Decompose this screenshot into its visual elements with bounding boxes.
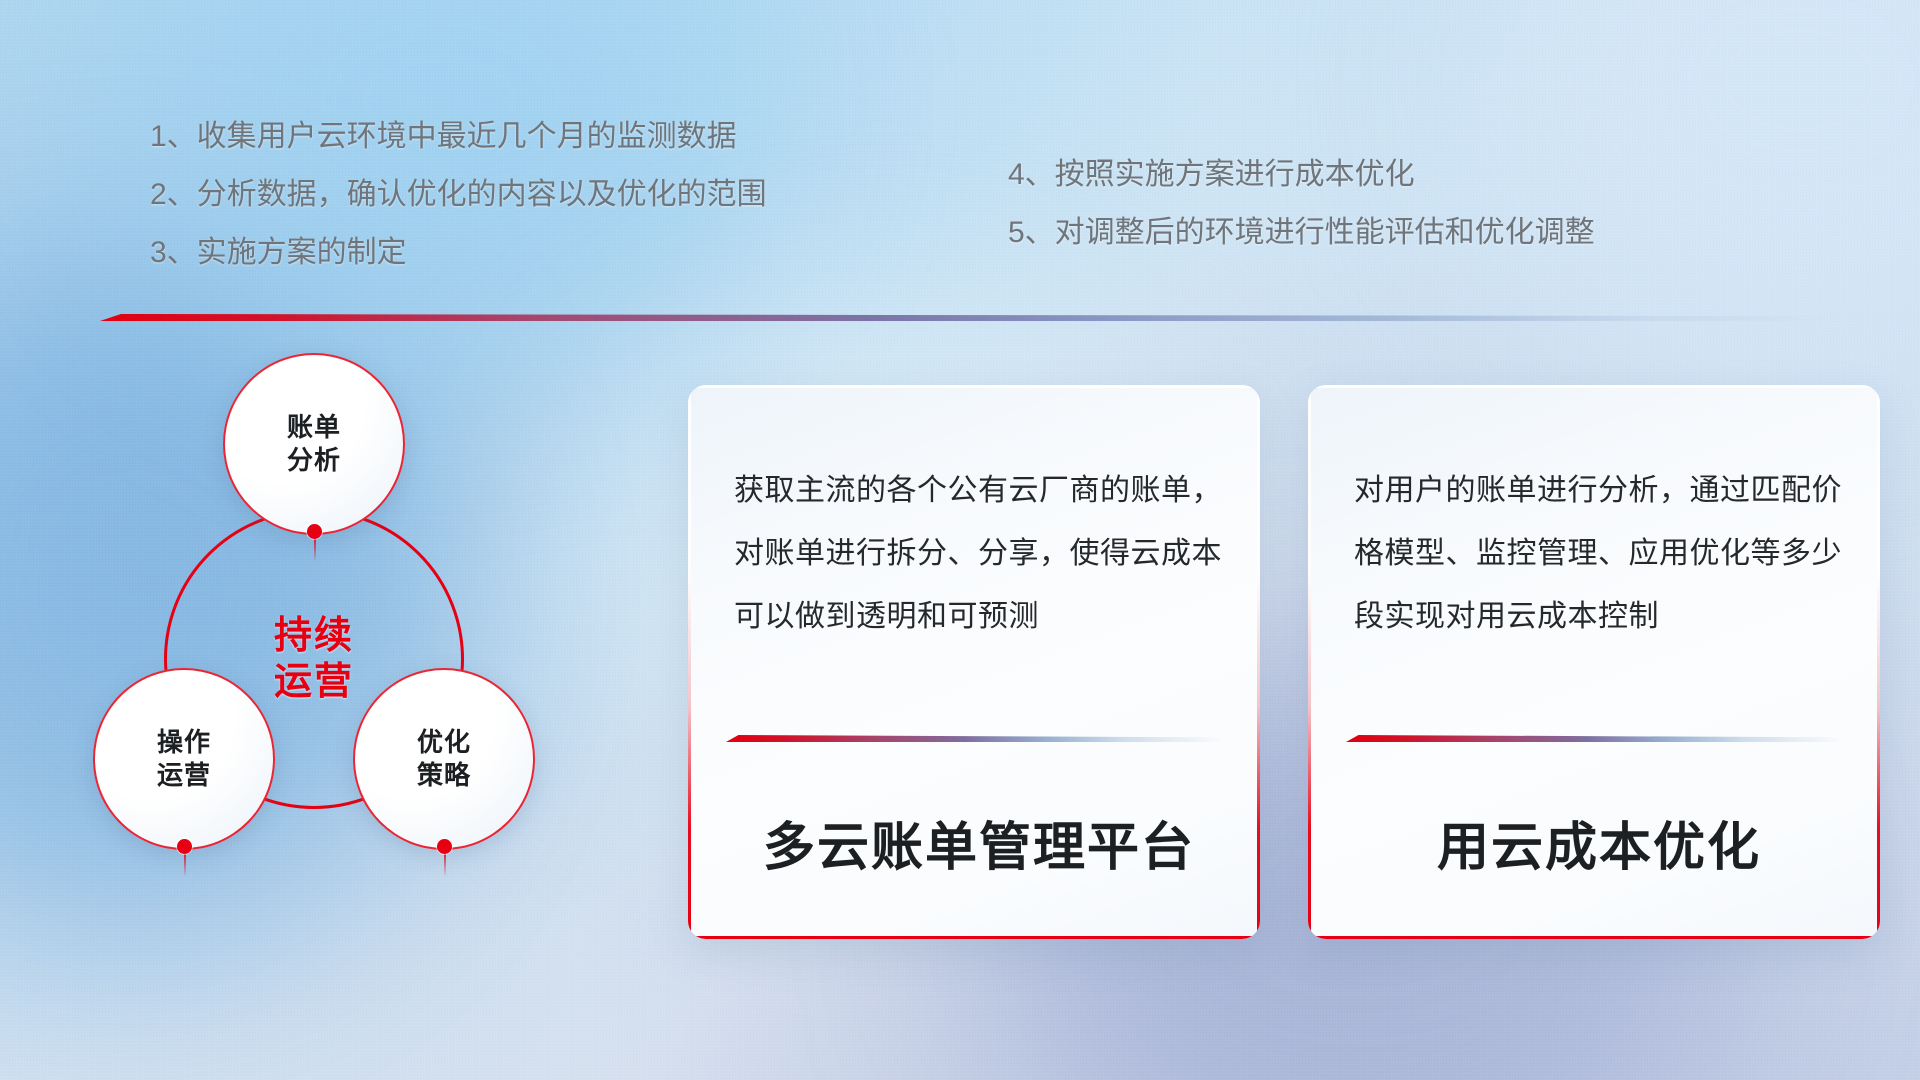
card-edge-bottom	[688, 936, 1260, 939]
cycle-marker-dot-top	[307, 524, 322, 539]
section-divider	[100, 314, 1840, 321]
card-description: 对用户的账单进行分析，通过匹配价格模型、监控管理、应用优化等多少段实现对用云成本…	[1354, 459, 1844, 648]
cycle-center-line1: 持续	[274, 613, 354, 659]
cycle-center-line2: 运营	[274, 659, 354, 705]
card-edge-top	[688, 385, 1260, 388]
card-divider	[1346, 735, 1844, 742]
cycle-node-line1: 账单	[287, 411, 341, 444]
cycle-marker-tail-bottomright	[444, 853, 446, 877]
cycle-node-line2: 分析	[287, 444, 341, 477]
cycle-marker-dot-bottomright	[437, 839, 452, 854]
bullet-item-1: 1、收集用户云环境中最近几个月的监测数据	[150, 122, 767, 152]
bullet-item-5: 5、对调整后的环境进行性能评估和优化调整	[1008, 218, 1595, 248]
cycle-node-line2: 策略	[417, 759, 471, 792]
card-title: 用云成本优化	[1354, 805, 1844, 880]
card-edge-bottom	[1308, 936, 1880, 939]
cycle-node-operations[interactable]: 操作 运营	[93, 668, 275, 850]
cycle-node-optimization-strategy[interactable]: 优化 策略	[353, 668, 535, 850]
cycle-marker-tail-bottomleft	[184, 853, 186, 877]
slide-canvas: 1、收集用户云环境中最近几个月的监测数据 2、分析数据，确认优化的内容以及优化的…	[0, 0, 1920, 1080]
bullet-list-left: 1、收集用户云环境中最近几个月的监测数据 2、分析数据，确认优化的内容以及优化的…	[150, 122, 767, 268]
cycle-node-billing-analysis[interactable]: 账单 分析	[223, 353, 405, 535]
cycle-node-line2: 运营	[157, 759, 211, 792]
feature-card-cloud-cost-optimization[interactable]: 对用户的账单进行分析，通过匹配价格模型、监控管理、应用优化等多少段实现对用云成本…	[1308, 385, 1880, 939]
cycle-diagram: 持续 运营 账单 分析 操作 运营 优化 策略	[88, 352, 648, 952]
cycle-node-line1: 操作	[157, 726, 211, 759]
bullet-item-3: 3、实施方案的制定	[150, 238, 767, 268]
card-description: 获取主流的各个公有云厂商的账单，对账单进行拆分、分享，使得云成本可以做到透明和可…	[734, 459, 1224, 648]
feature-card-multicloud-billing[interactable]: 获取主流的各个公有云厂商的账单，对账单进行拆分、分享，使得云成本可以做到透明和可…	[688, 385, 1260, 939]
card-title: 多云账单管理平台	[734, 805, 1224, 880]
card-edge-top	[1308, 385, 1880, 388]
cycle-marker-tail-top	[314, 538, 316, 562]
card-divider	[726, 735, 1224, 742]
bullet-item-4: 4、按照实施方案进行成本优化	[1008, 160, 1595, 190]
bullet-list-right: 4、按照实施方案进行成本优化 5、对调整后的环境进行性能评估和优化调整	[1008, 160, 1595, 248]
bullet-item-2: 2、分析数据，确认优化的内容以及优化的范围	[150, 180, 767, 210]
cycle-node-line1: 优化	[417, 726, 471, 759]
cycle-marker-dot-bottomleft	[177, 839, 192, 854]
